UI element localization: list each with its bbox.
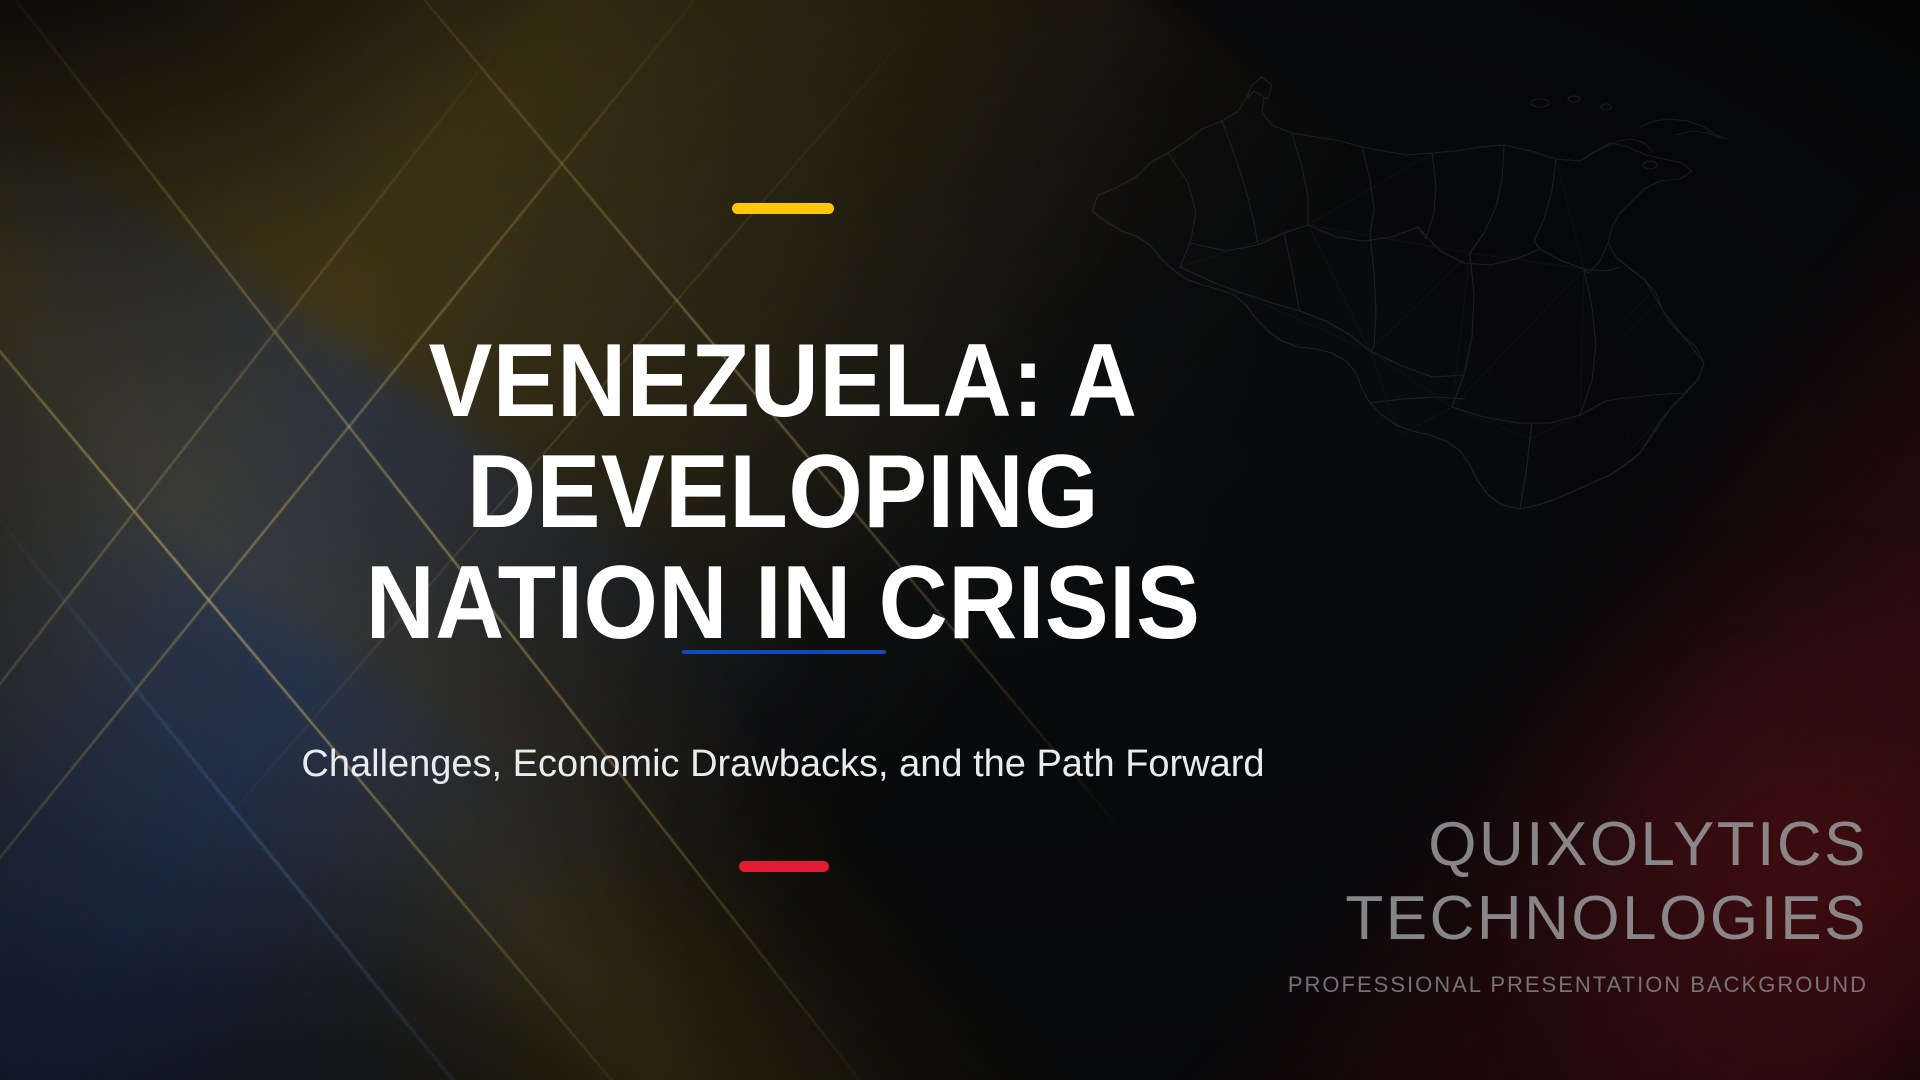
slide-content: Venezuela: A Developing Nation in Crisis… bbox=[0, 0, 1920, 1080]
accent-bar-bottom-red bbox=[739, 861, 829, 872]
title-slide: Venezuela: A Developing Nation in Crisis… bbox=[0, 0, 1920, 1080]
watermark-tagline: PROFESSIONAL PRESENTATION BACKGROUND bbox=[1288, 972, 1868, 998]
accent-bar-middle-blue bbox=[682, 650, 886, 654]
page-subtitle: Challenges, Economic Drawbacks, and the … bbox=[278, 738, 1288, 790]
watermark-brand-line2: TECHNOLOGIES bbox=[1288, 888, 1868, 950]
watermark-logo: QUIXOLYTICS TECHNOLOGIES PROFESSIONAL PR… bbox=[1288, 814, 1868, 998]
watermark-brand-line1: QUIXOLYTICS bbox=[1288, 814, 1868, 876]
page-title-text: Venezuela: A Developing Nation in Crisis bbox=[286, 326, 1280, 660]
accent-bar-top-yellow bbox=[732, 203, 834, 214]
page-title: Venezuela: A Developing Nation in Crisis bbox=[243, 326, 1323, 660]
